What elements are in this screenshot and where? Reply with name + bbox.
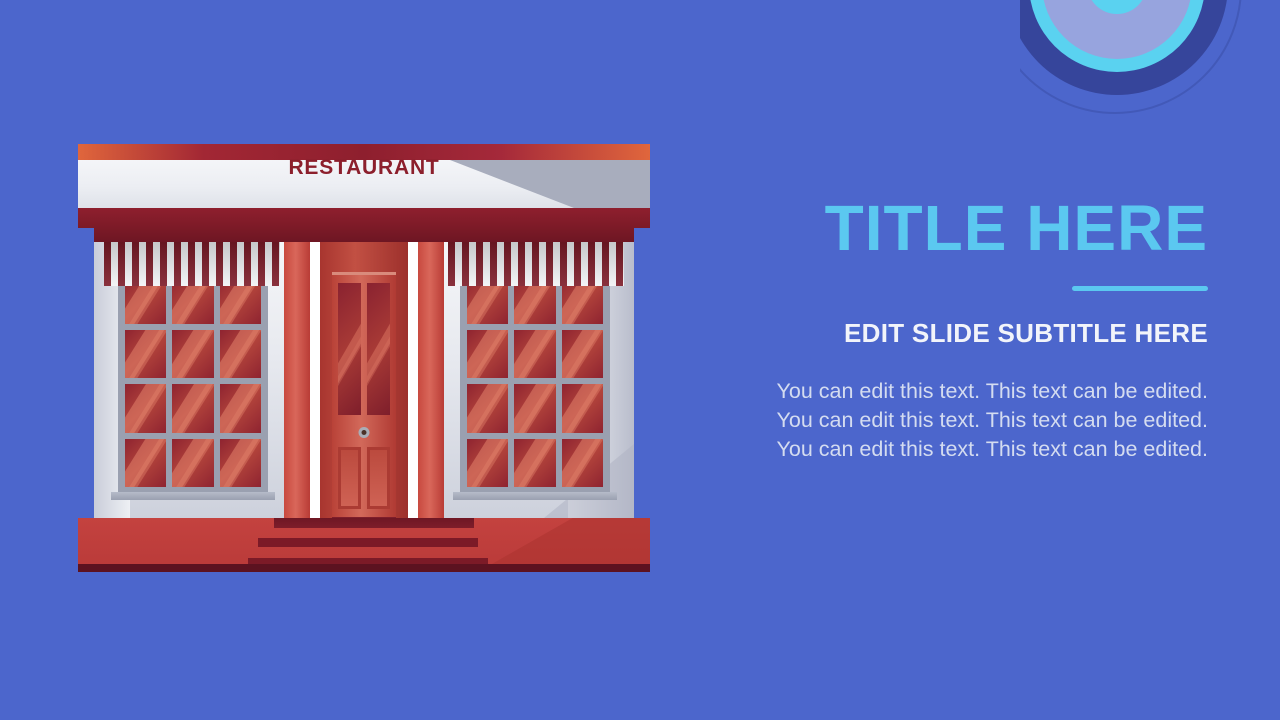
base-bottom-trim: [78, 564, 650, 572]
signboard-lower-band: [78, 208, 650, 228]
restaurant-storefront-illustration: RESTAURANT: [78, 144, 650, 572]
title-divider: [1072, 286, 1208, 291]
pilaster-gap-right: [408, 228, 418, 522]
window-pane: [467, 384, 508, 433]
page-subtitle: EDIT SLIDE SUBTITLE HERE: [742, 319, 1208, 348]
text-column: TITLE HERE EDIT SLIDE SUBTITLE HERE You …: [742, 196, 1208, 464]
window-pane: [125, 384, 166, 433]
window-pane: [562, 330, 603, 379]
window-pane: [125, 330, 166, 379]
corner-decoration: [1020, 0, 1280, 140]
decor-ring-navy: [1020, 0, 1228, 95]
window-pane: [220, 330, 261, 379]
decor-ring-core: [1087, 0, 1147, 14]
step-upper: [258, 538, 478, 547]
awning-right: [448, 242, 624, 286]
window-pane: [125, 439, 166, 488]
door-knob-icon[interactable]: [359, 427, 370, 438]
page-title: TITLE HERE: [742, 196, 1208, 260]
window-pane: [562, 384, 603, 433]
awning-left: [104, 242, 280, 286]
window-left: [118, 268, 268, 494]
window-pane: [514, 384, 555, 433]
window-right: [460, 268, 610, 494]
window-pane: [514, 330, 555, 379]
restaurant-sign-text: RESTAURANT: [78, 144, 650, 192]
window-pane: [562, 439, 603, 488]
door-lower-panels: [338, 447, 390, 509]
window-pane: [514, 439, 555, 488]
decor-ring-outline: [1020, 0, 1242, 114]
window-pane: [467, 330, 508, 379]
door-glass-pane-right: [367, 283, 390, 415]
pilaster-gap-left: [310, 228, 320, 522]
entrance-door[interactable]: [332, 272, 396, 522]
pilaster-left: [284, 228, 310, 522]
window-sill-right: [453, 492, 617, 500]
step-landing: [274, 518, 474, 528]
pilaster-right: [418, 228, 444, 522]
door-glass-pane-left: [338, 283, 361, 415]
window-pane: [467, 439, 508, 488]
window-pane: [220, 439, 261, 488]
decor-ring-periwinkle: [1042, 0, 1192, 59]
window-pane: [220, 384, 261, 433]
window-pane: [172, 439, 213, 488]
door-panel-right: [367, 447, 390, 509]
window-pane: [172, 384, 213, 433]
window-sill-left: [111, 492, 275, 500]
door-glass-group: [338, 283, 390, 415]
decor-ring-cyan: [1029, 0, 1205, 72]
door-panel-left: [338, 447, 361, 509]
window-pane: [172, 330, 213, 379]
awning-header-band: [94, 228, 634, 242]
body-text: You can edit this text. This text can be…: [742, 377, 1208, 465]
